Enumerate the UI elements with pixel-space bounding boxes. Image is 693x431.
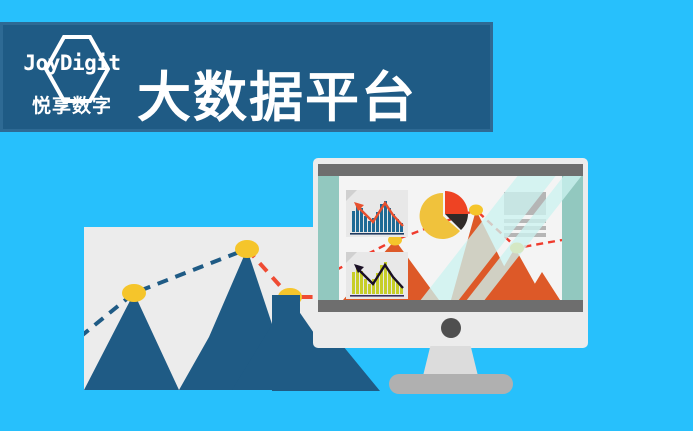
screen-left-sidepanel <box>318 176 339 300</box>
bar-chart-yellow <box>346 252 408 299</box>
monitor-camera-dot <box>441 318 461 338</box>
bar-chart-yellow-card <box>346 252 408 299</box>
logo-subtitle: 悦享数字 <box>16 97 128 116</box>
logo-wordmark: JoyDigit <box>16 53 128 74</box>
monitor-illustration <box>313 158 588 348</box>
illustration-canvas: JoyDigit 悦享数字 大数据平台 <box>0 0 693 431</box>
monitor-bottom-bar <box>318 300 583 312</box>
bar-chart-blue <box>346 190 408 237</box>
pie-slice-red <box>445 191 468 214</box>
pie-chart <box>417 188 471 242</box>
page-title: 大数据平台 <box>137 71 417 125</box>
data-point-marker <box>469 205 483 216</box>
brand-logo: JoyDigit 悦享数字 <box>16 33 128 127</box>
data-point-marker <box>122 284 146 302</box>
monitor-top-bar <box>318 164 583 176</box>
data-point-marker <box>235 240 259 258</box>
monitor-stand-base <box>389 374 513 394</box>
header-banner: JoyDigit 悦享数字 大数据平台 <box>0 22 493 132</box>
bar-chart-blue-card <box>346 190 408 237</box>
monitor-screen <box>318 176 583 300</box>
